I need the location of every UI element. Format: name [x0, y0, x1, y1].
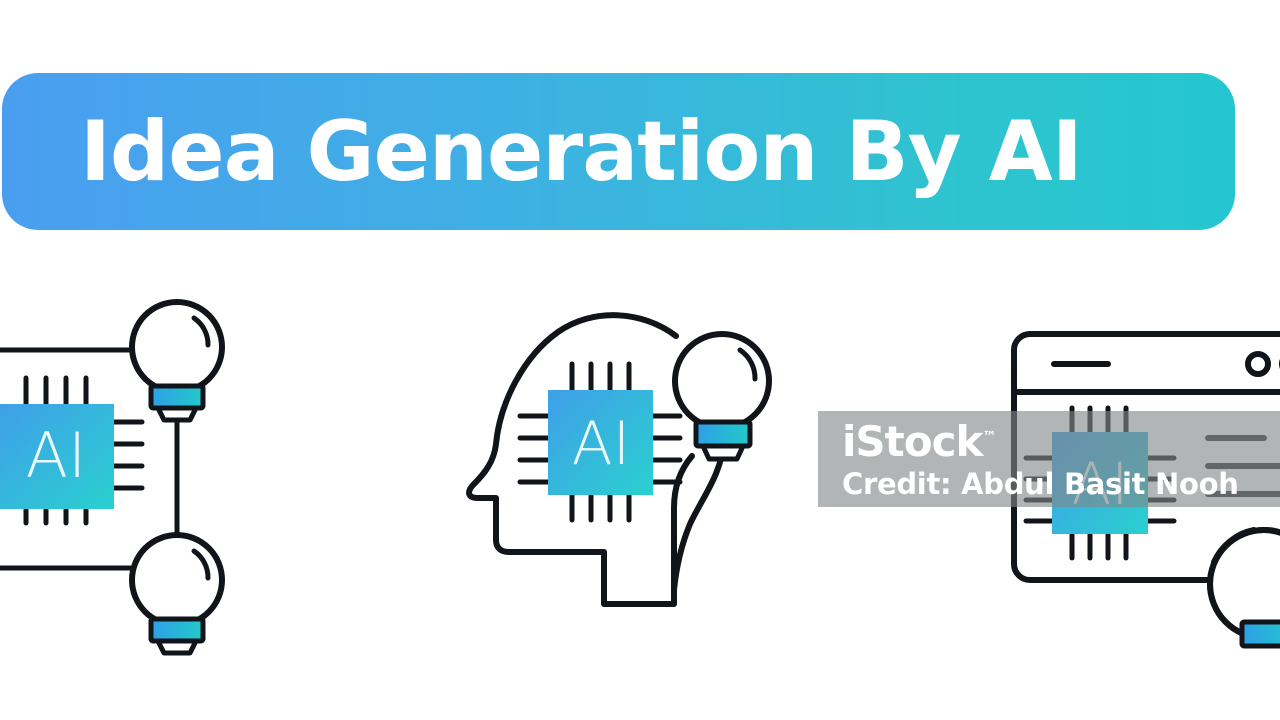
- chip-label: AI: [26, 419, 87, 492]
- istock-watermark: iStock™ Credit: Abdul Basit Nooh: [818, 411, 1280, 507]
- watermark-brand: iStock™: [842, 417, 996, 466]
- light-bulb: [675, 334, 769, 459]
- chip-label: AI: [572, 409, 631, 479]
- ai-chip: AI: [0, 378, 142, 523]
- bulb-wire: [674, 440, 724, 590]
- illustration-head-with-ai-chip: AI: [452, 298, 792, 628]
- bottom-light-bulb: [132, 535, 222, 653]
- top-light-bulb: [132, 302, 222, 420]
- window-control-dot: [1248, 354, 1268, 374]
- light-bulb: [1210, 530, 1280, 646]
- ai-chip: AI: [520, 364, 680, 520]
- watermark-brand-text: iStock: [842, 417, 982, 466]
- watermark-credit: Credit: Abdul Basit Nooh: [842, 467, 1239, 501]
- page-title-banner: Idea Generation By AI: [2, 73, 1235, 230]
- illustration-ai-chip-network-bulbs: AI: [0, 292, 242, 642]
- page-title: Idea Generation By AI: [80, 110, 1082, 193]
- trademark-icon: ™: [982, 429, 996, 445]
